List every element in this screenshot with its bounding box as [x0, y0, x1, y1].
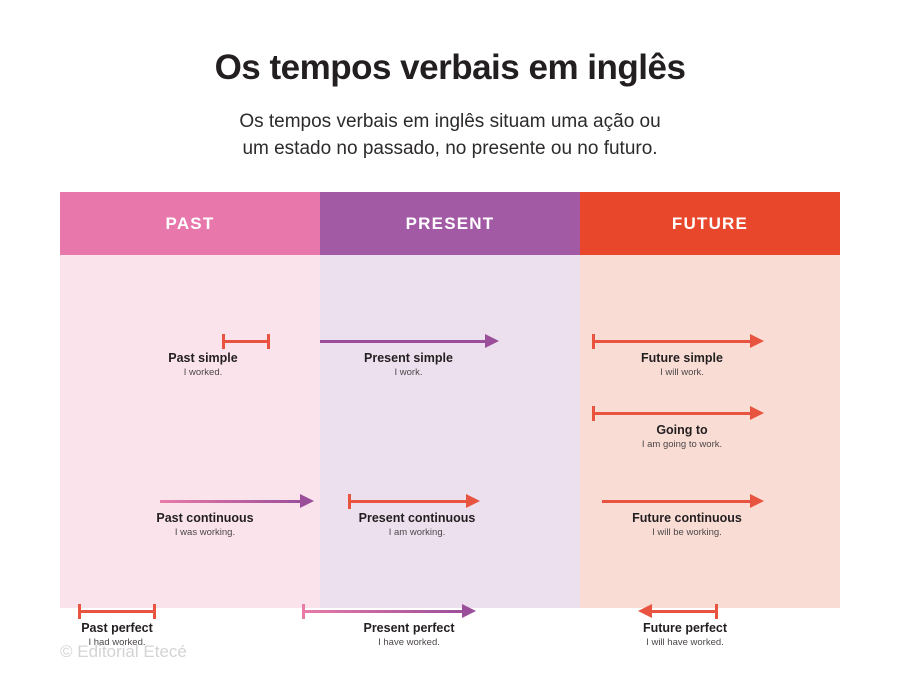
tense-label: Present continuous — [336, 511, 498, 526]
tense-label: Future perfect — [632, 621, 738, 636]
column-header-past: PAST — [60, 192, 320, 255]
column-body-present: Present simple I work. Present continuou… — [320, 255, 580, 608]
tense-item-going-to[interactable]: Going to I am going to work. — [592, 405, 772, 451]
marker-arrow-left-capped-right-icon — [638, 603, 738, 619]
tense-label: Going to — [592, 423, 772, 438]
tense-item-present-perfect[interactable]: Present perfect I have worked. — [302, 603, 492, 649]
marker-arrow-right-gradient-icon — [160, 493, 320, 509]
page-subtitle: Os tempos verbais em inglês situam uma a… — [0, 108, 900, 162]
tense-item-future-simple[interactable]: Future simple I will work. — [592, 333, 772, 379]
tense-label: Past simple — [84, 351, 322, 366]
tense-item-past-continuous[interactable]: Past continuous I was working. — [160, 493, 320, 539]
tense-example: I am going to work. — [592, 438, 772, 451]
column-body-future: Future simple I will work. Going to I am… — [580, 255, 840, 608]
tense-example: I am working. — [336, 526, 498, 539]
marker-arrow-right-capped-left-icon — [592, 405, 772, 421]
column-header-present: PRESENT — [320, 192, 580, 255]
marker-arrow-right-icon — [320, 333, 515, 349]
tense-item-present-simple[interactable]: Present simple I work. — [320, 333, 515, 379]
marker-arrow-right-capped-left-icon — [592, 333, 772, 349]
tense-table: PAST Past simple I worked. Past continuo… — [60, 192, 840, 608]
tense-item-future-continuous[interactable]: Future continuous I will be working. — [602, 493, 772, 539]
tense-example: I was working. — [90, 526, 320, 539]
column-present: PRESENT Present simple I work. Present c… — [320, 192, 580, 608]
column-header-future: FUTURE — [580, 192, 840, 255]
tense-label: Future continuous — [602, 511, 772, 526]
tense-label: Past continuous — [90, 511, 320, 526]
tense-example: I worked. — [84, 366, 322, 379]
page-subtitle-line-2: um estado no passado, no presente ou no … — [0, 135, 900, 162]
tense-label: Future simple — [592, 351, 772, 366]
page-subtitle-line-1: Os tempos verbais em inglês situam uma a… — [0, 108, 900, 135]
tense-label: Present simple — [302, 351, 515, 366]
tense-label: Past perfect — [56, 621, 178, 636]
tense-item-present-continuous[interactable]: Present continuous I am working. — [348, 493, 498, 539]
marker-arrow-right-gradient-capped-left-icon — [302, 603, 492, 619]
tense-example: I will have worked. — [632, 636, 738, 649]
column-future: FUTURE Future simple I will work. — [580, 192, 840, 608]
tense-example: I will be working. — [602, 526, 772, 539]
tense-example: I work. — [302, 366, 515, 379]
tense-example: I have worked. — [326, 636, 492, 649]
tense-example: I will work. — [592, 366, 772, 379]
marker-bar-capped-both-icon — [222, 333, 322, 349]
credit-text: © Editorial Etecé — [60, 642, 187, 662]
marker-arrow-right-icon — [602, 493, 772, 509]
tense-item-future-perfect[interactable]: Future perfect I will have worked. — [638, 603, 738, 649]
page-title: Os tempos verbais em inglês — [0, 48, 900, 88]
column-past: PAST Past simple I worked. Past continuo… — [60, 192, 320, 608]
marker-bar-capped-both-icon — [78, 603, 178, 619]
column-body-past: Past simple I worked. Past continuous I … — [60, 255, 320, 608]
tense-label: Present perfect — [326, 621, 492, 636]
marker-arrow-right-capped-left-icon — [348, 493, 498, 509]
